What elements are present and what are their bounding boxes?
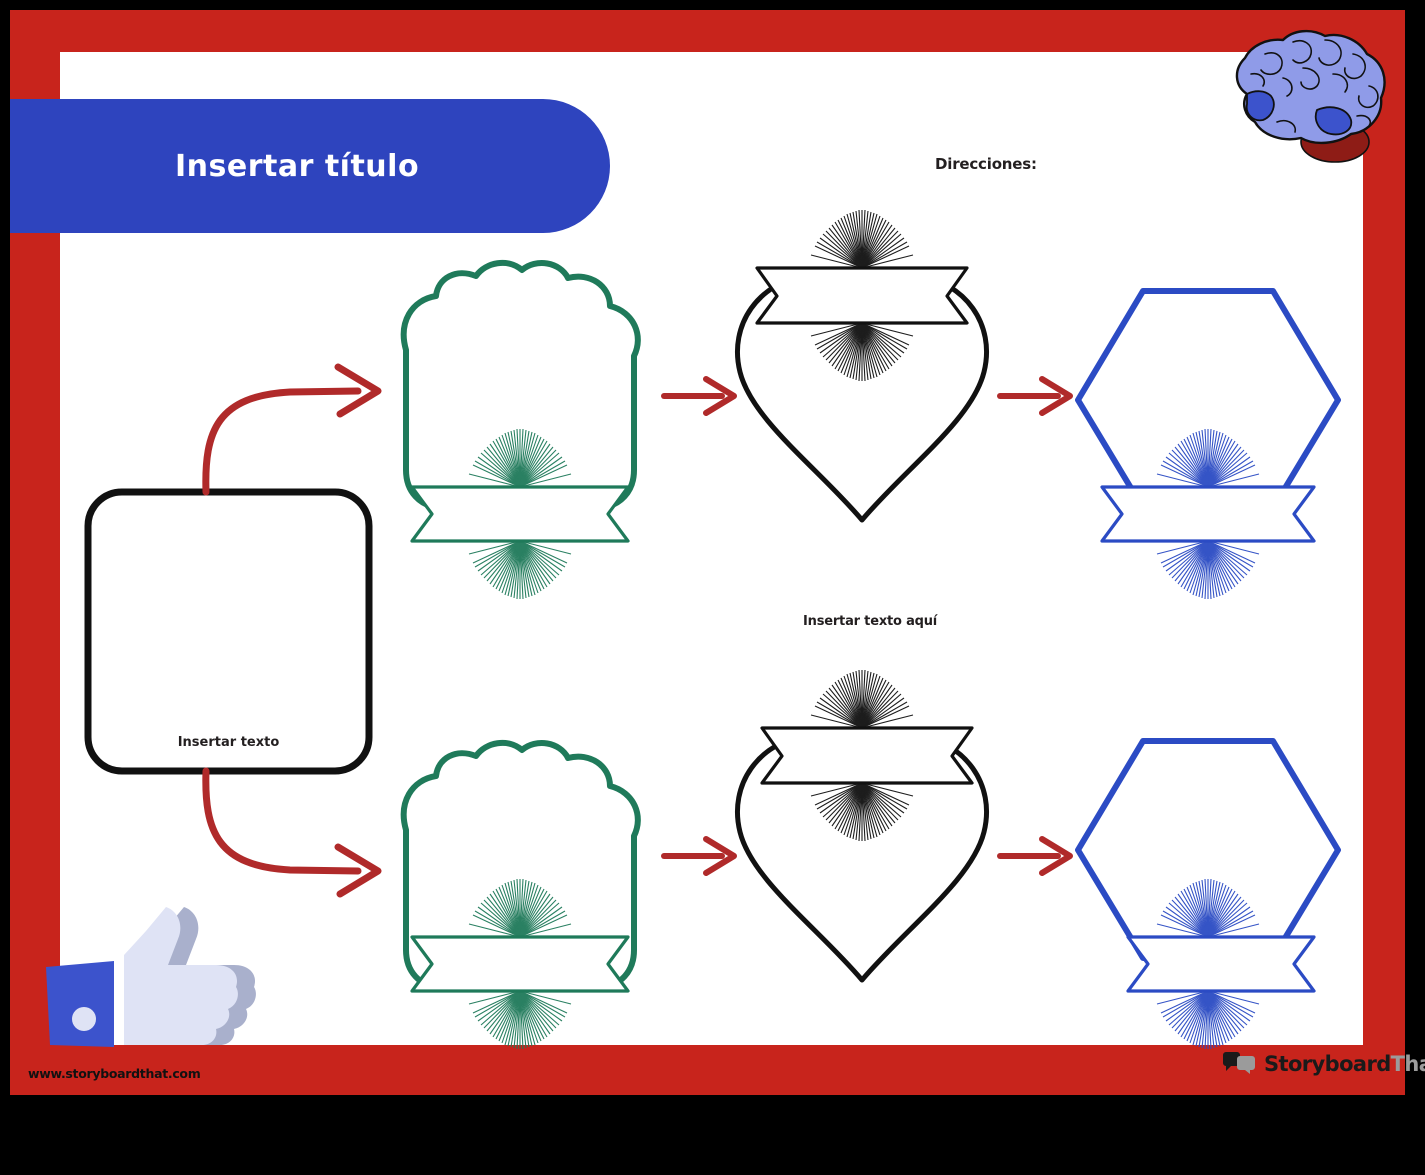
title-banner[interactable]: Insertar título xyxy=(10,99,610,233)
start-node-label: Insertar texto xyxy=(88,735,369,750)
brain-icon xyxy=(1207,24,1397,164)
page-title: Insertar título xyxy=(175,149,419,184)
footer-url[interactable]: www.storyboardthat.com xyxy=(28,1066,200,1081)
logo-wordmark: StoryboardThat xyxy=(1264,1052,1425,1076)
thumbs-up-icon xyxy=(44,895,274,1060)
speech-bubbles-icon xyxy=(1222,1052,1256,1076)
storyboardthat-logo[interactable]: StoryboardThat xyxy=(1222,1052,1425,1076)
poster-root: Insertar título Direcciones: Insertar te… xyxy=(0,0,1425,1175)
logo-word-that: That xyxy=(1391,1052,1425,1076)
logo-word-storyboard: Storyboard xyxy=(1264,1052,1391,1076)
directions-label: Direcciones: xyxy=(935,155,1037,173)
middle-caption-text[interactable]: Insertar texto aquí xyxy=(803,614,937,629)
